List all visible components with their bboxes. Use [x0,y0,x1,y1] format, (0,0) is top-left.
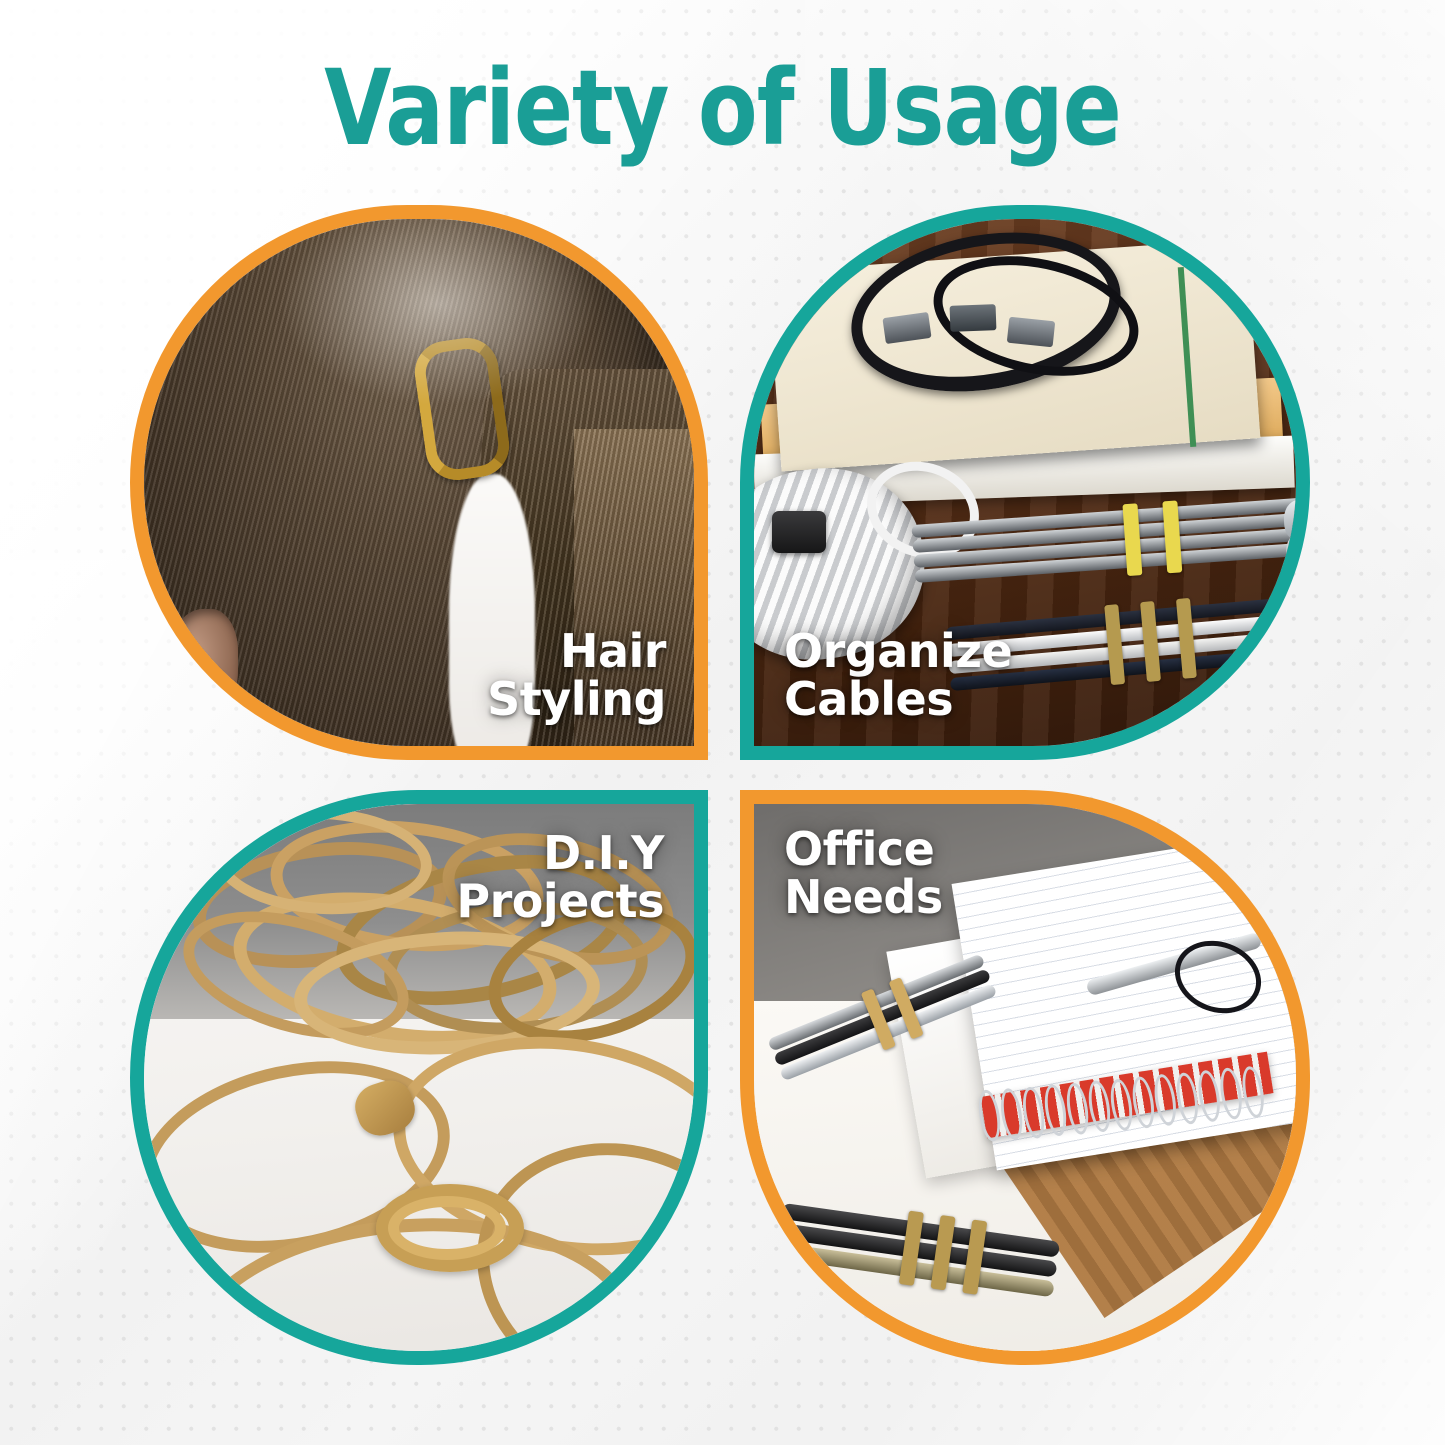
caption-line-1: Organize [784,628,1012,676]
caption-line-2: Needs [784,874,943,922]
caption-line-2: Cables [784,676,1012,724]
caption-line-1: D.I.Y [456,830,664,878]
usb-plug-c [950,304,997,332]
panel-diy-projects[interactable]: D.I.Y Projects [130,790,708,1365]
panel-caption-office-needs: Office Needs [784,826,943,922]
ear-shape [166,609,238,721]
panel-hair-styling[interactable]: Hair Styling [130,205,708,760]
usb-plug-b [1007,317,1055,348]
panel-caption-organize-cables: Organize Cables [784,628,1012,724]
page-title: Variety of Usage [51,54,1395,162]
coiled-rubber-band-inner [388,1196,506,1260]
panel-caption-diy-projects: D.I.Y Projects [456,830,664,926]
caption-line-1: Office [784,826,943,874]
caption-line-2: Projects [456,878,664,926]
caption-line-1: Hair [487,628,666,676]
usage-panel-grid: Hair Styling [130,205,1310,1365]
panel-organize-cables[interactable]: Organize Cables [740,205,1310,760]
panel-caption-hair-styling: Hair Styling [487,628,666,724]
magsafe-connector [772,511,826,553]
panel-office-needs[interactable]: Office Needs [740,790,1310,1365]
infographic-canvas: Variety of Usage Hair Styling [0,0,1445,1445]
caption-line-2: Styling [487,676,666,724]
